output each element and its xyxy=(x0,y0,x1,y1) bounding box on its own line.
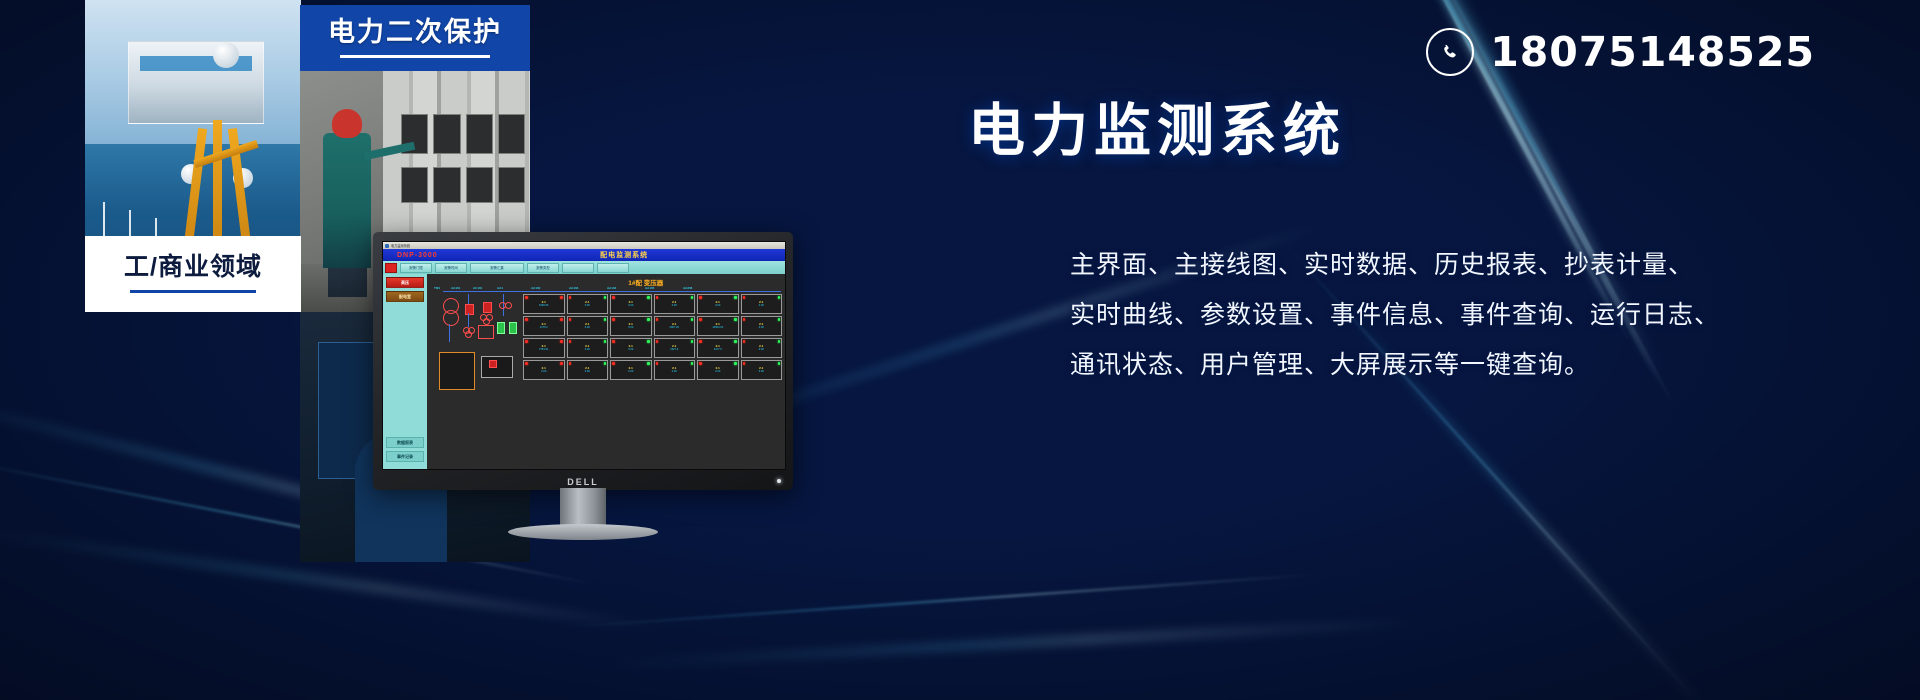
feature-description: 主界面、主接线图、实时数据、历史报表、抄表计量、 实时曲线、参数设置、事件信息、… xyxy=(1070,240,1810,390)
description-line-2: 实时曲线、参数设置、事件信息、事件查询、运行日志、 xyxy=(1070,290,1810,340)
page-title: 电力监测系统 xyxy=(968,103,1346,160)
description-line-3: 通讯状态、用户管理、大屏展示等一键查询。 xyxy=(1070,340,1810,390)
promo-banner: 电力二次保护 工/商业领域 电力监测系统 DNP-3000 配电监测系统 xyxy=(0,0,1920,700)
banner-text-content: 18075148525 电力监测系统 主界面、主接线图、实时数据、历史报表、抄表… xyxy=(0,0,1920,700)
description-line-1: 主界面、主接线图、实时数据、历史报表、抄表计量、 xyxy=(1070,240,1810,290)
phone-circle-icon xyxy=(1426,28,1474,76)
phone-contact[interactable]: 18075148525 xyxy=(1426,28,1815,76)
phone-number: 18075148525 xyxy=(1490,32,1815,73)
